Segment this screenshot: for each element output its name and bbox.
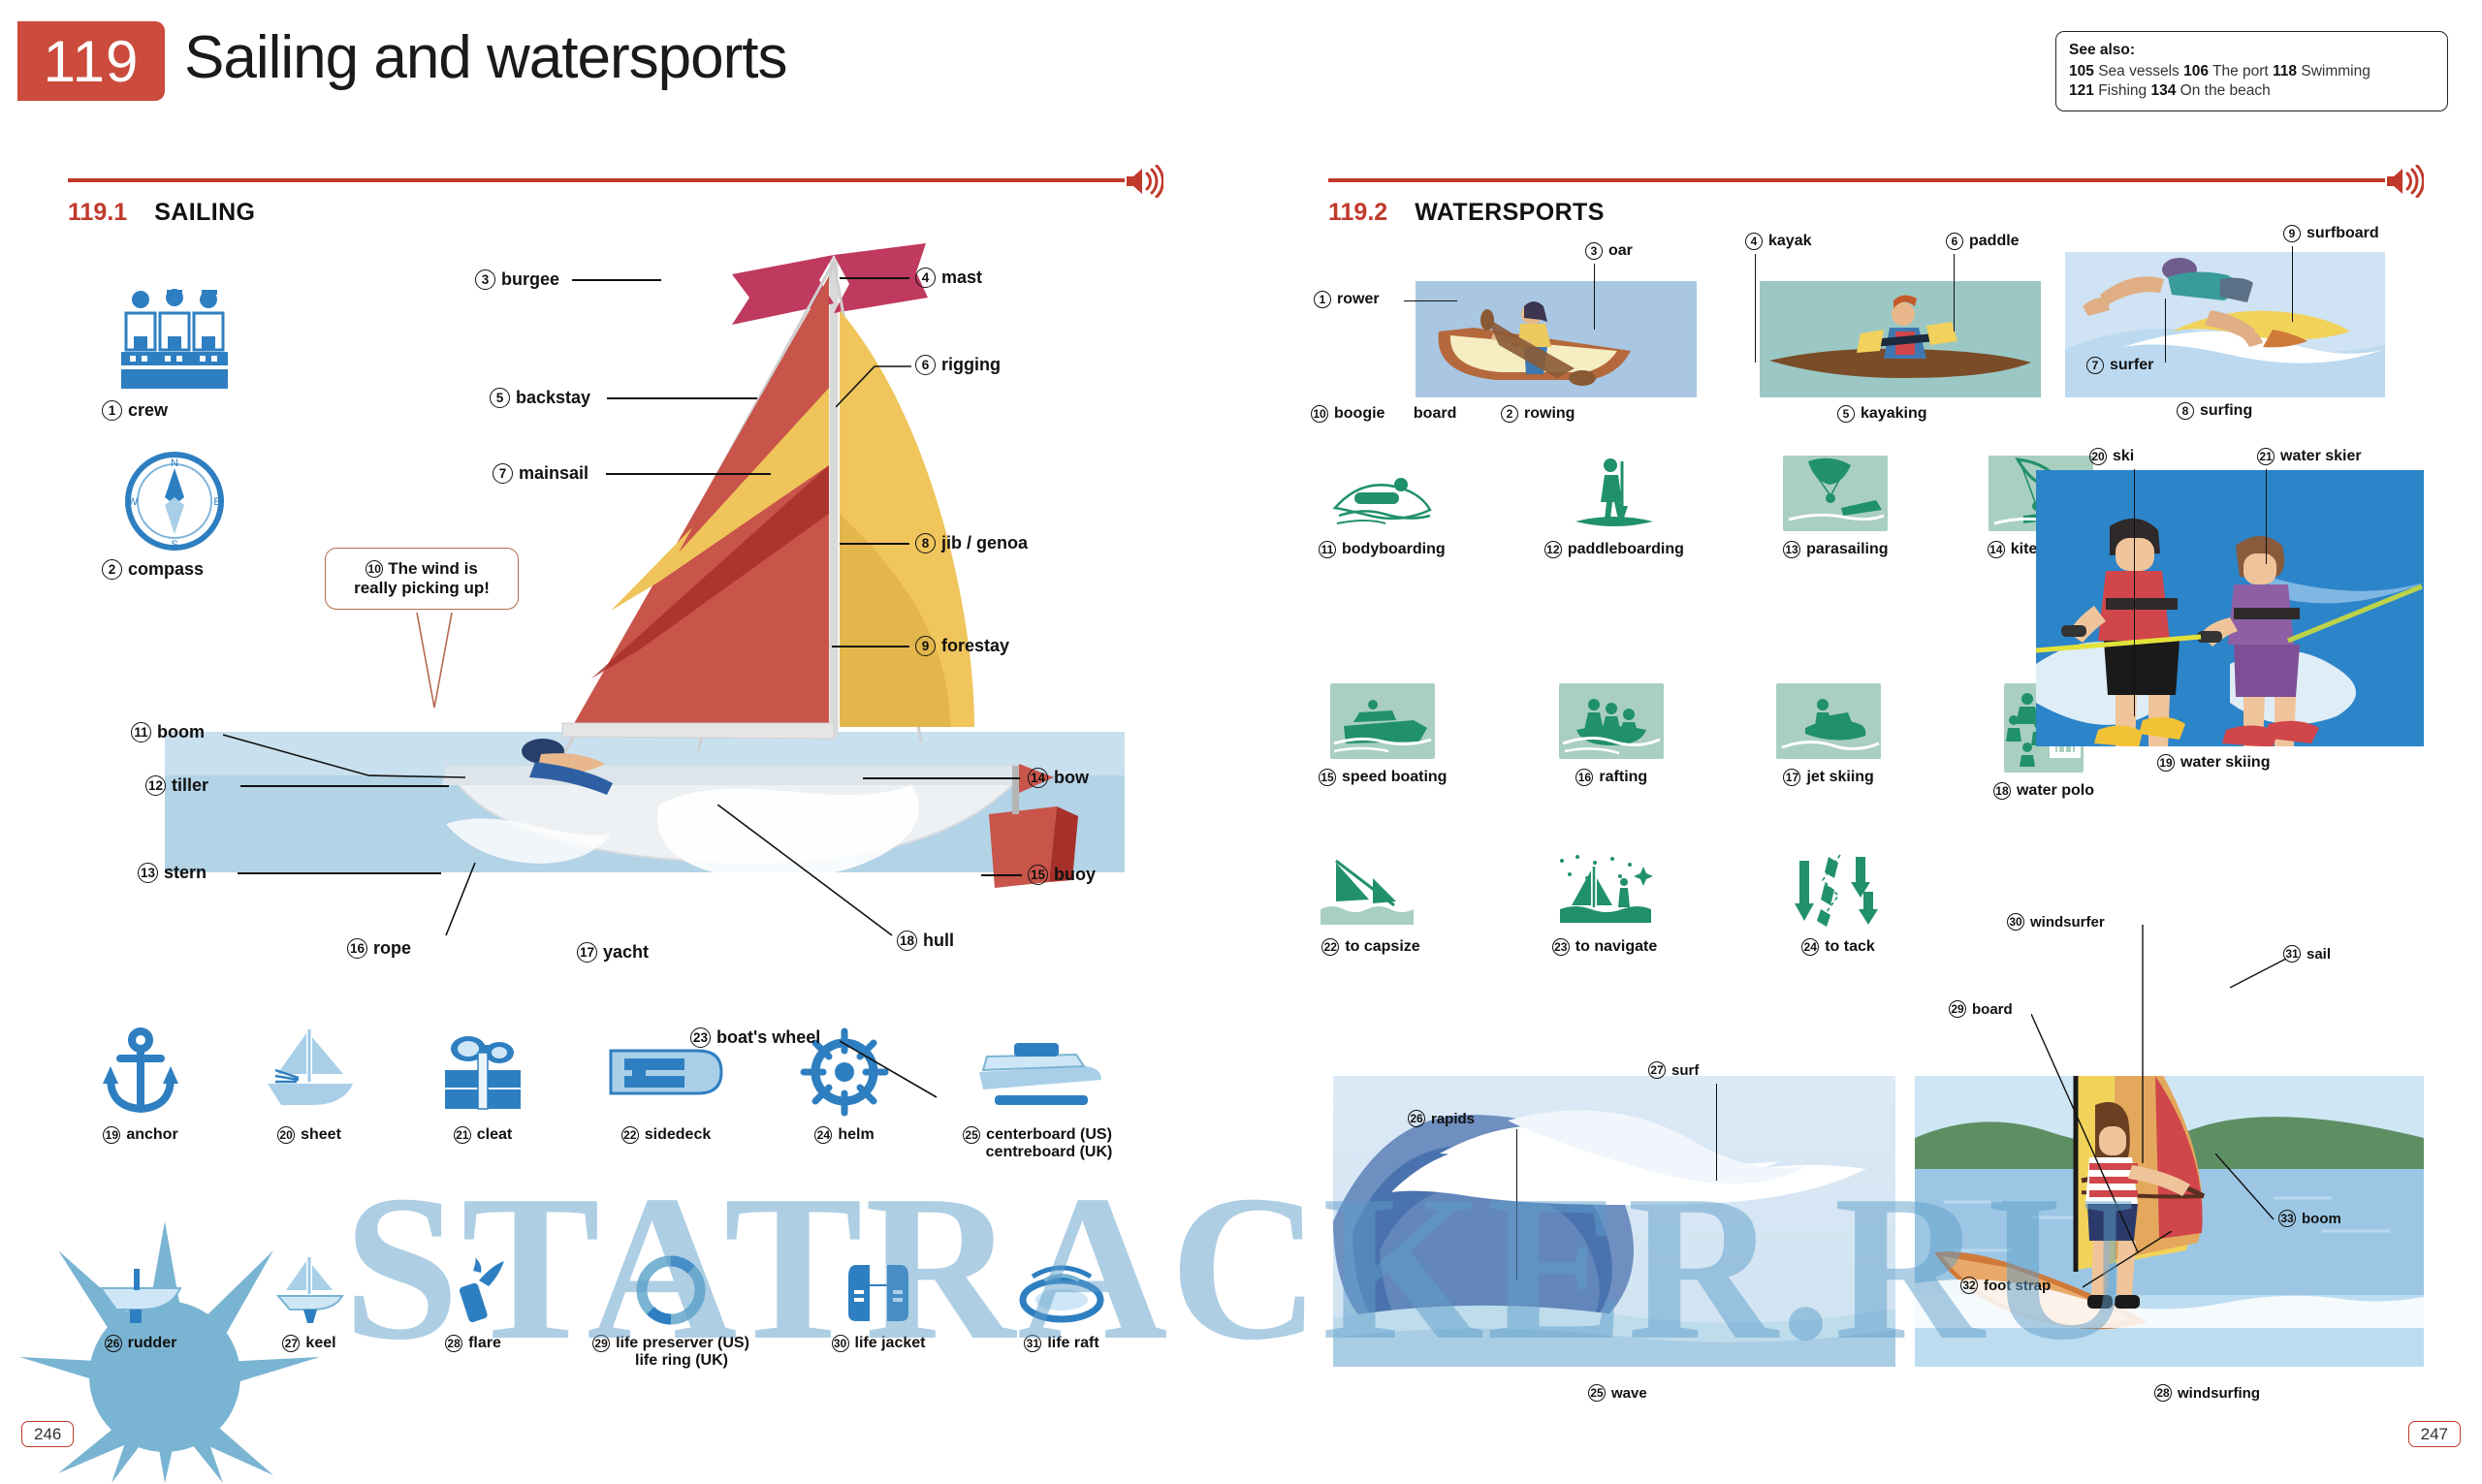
item-number: 31: [1024, 1335, 1041, 1352]
life-raft-icon: [1013, 1255, 1110, 1325]
label-rapids: 26 rapids: [1408, 1110, 1475, 1127]
label-water-skier: 21 water skier: [2257, 448, 2362, 465]
keel-icon: [261, 1255, 358, 1325]
label-surfer: 7 surfer: [2086, 357, 2153, 374]
item-label: keel: [305, 1335, 335, 1352]
leader-line: [607, 397, 757, 399]
see-also-label: See also:: [2069, 41, 2434, 60]
leader-line: [1594, 264, 1595, 330]
item-label: burgee: [501, 269, 559, 290]
label-oar: 3 oar: [1585, 242, 1633, 260]
sailing-yacht-illustration: [155, 223, 1134, 921]
item-label: life jacket: [855, 1335, 926, 1352]
see-also-line-2: 121 Fishing 134 On the beach: [2069, 81, 2434, 101]
item-label: kayak: [1768, 233, 1812, 250]
rafting-icon: [1559, 683, 1664, 759]
leader-line: [2215, 1153, 2293, 1231]
leader-line: [2134, 469, 2135, 716]
item-label: paddleboarding: [1568, 541, 1684, 558]
caption-windsurfing: 28 windsurfing: [2154, 1384, 2260, 1402]
caption-wave: 25 wave: [1588, 1384, 1647, 1402]
label-backstay: 5 backstay: [490, 388, 590, 408]
page-number: 247: [2408, 1421, 2461, 1447]
picto-to-tack: 24 to tack: [1786, 853, 1891, 956]
item-number: 16: [1575, 769, 1593, 786]
water-skiing-illustration: [2036, 470, 2424, 746]
item-label: to navigate: [1575, 938, 1657, 956]
leader-line: [2083, 1231, 2180, 1299]
item-number: 3: [1585, 242, 1603, 260]
label-boogie-board: 10 boogie board: [1311, 405, 1456, 423]
item-label: wave: [1611, 1385, 1647, 1402]
item-number: 27: [1648, 1061, 1666, 1079]
item-label: water polo: [2017, 782, 2094, 800]
item-number: 30: [832, 1335, 849, 1352]
item-label: foot strap: [1984, 1278, 2051, 1294]
see-also-num: 118: [2273, 63, 2297, 79]
item-number: 25: [963, 1126, 980, 1144]
equipment-item-cleat: 21 cleat: [405, 1027, 560, 1161]
jet-skiing-icon: [1776, 683, 1881, 759]
picto-speed-boating: 15 speed boating: [1319, 683, 1447, 800]
item-number: 22: [1321, 938, 1339, 956]
item-number: 2: [1501, 405, 1518, 423]
rowing-illustration: [1416, 281, 1697, 397]
item-number: 4: [915, 268, 936, 288]
item-label: bodyboarding: [1342, 541, 1446, 558]
item-number: 14: [1988, 541, 2005, 558]
item-number: 24: [1801, 938, 1819, 956]
page-number-right: 247: [2408, 1425, 2461, 1444]
item-label: mainsail: [519, 463, 589, 484]
item-number: 15: [1319, 769, 1336, 786]
item-number: 17: [577, 942, 597, 963]
speech-line-2: really picking up!: [335, 579, 508, 598]
item-label-line2: board: [1414, 405, 1456, 423]
leader-line: [223, 727, 475, 785]
see-also-num: 121: [2069, 82, 2094, 99]
see-also-line-1: 105 Sea vessels 106 The port 118 Swimmin…: [2069, 62, 2434, 81]
item-label: forestay: [941, 636, 1009, 656]
item-label: water skier: [2280, 448, 2362, 465]
label-yacht: 17 yacht: [577, 942, 649, 963]
label-bow: 14 bow: [1028, 768, 1089, 788]
item-number: 9: [915, 636, 936, 656]
speed-boating-icon: [1330, 683, 1435, 759]
item-number: 13: [138, 863, 158, 883]
item-number: 7: [2086, 357, 2104, 374]
item-label: speed boating: [1342, 769, 1447, 786]
leader-line: [2292, 246, 2293, 322]
label-boom: 11 boom: [131, 722, 205, 742]
item-number: 11: [1319, 541, 1336, 558]
item-number: 23: [1552, 938, 1570, 956]
item-number: 3: [475, 269, 495, 290]
picto-to-navigate: 23 to navigate: [1552, 853, 1657, 956]
item-label: flare: [468, 1335, 501, 1352]
leader-line: [1516, 1129, 1517, 1279]
item-label: surfer: [2110, 357, 2153, 374]
item-label: stern: [164, 863, 207, 883]
item-number: 12: [145, 775, 166, 796]
caption-kayaking: 5 kayaking: [1837, 405, 1926, 423]
see-also-num: 105: [2069, 63, 2094, 79]
picto-bodyboarding: 11 bodyboarding: [1319, 456, 1446, 558]
item-label: helm: [838, 1126, 874, 1144]
watersports-picto-row-3: 22 to capsize 23 to navigate: [1319, 853, 1891, 956]
item-number: 26: [1408, 1110, 1425, 1127]
page-number-left: 246: [21, 1425, 74, 1444]
item-number: 29: [1949, 1000, 1966, 1018]
label-mainsail: 7 mainsail: [493, 463, 589, 484]
label-hull: 18 hull: [897, 931, 954, 951]
item-label: rapids: [1431, 1111, 1475, 1127]
see-also-name: Sea vessels: [2098, 63, 2180, 79]
label-surfboard: 9 surfboard: [2283, 225, 2379, 242]
leader-line: [717, 805, 902, 940]
item-number: 20: [2089, 448, 2107, 465]
equipment-item-flare: 28 flare: [405, 1255, 541, 1370]
navigate-icon: [1552, 853, 1657, 929]
see-also-name: Fishing: [2098, 82, 2147, 99]
section-number: 119.2: [1328, 199, 1387, 227]
equipment-item-life-jacket: 30 life jacket: [801, 1255, 956, 1370]
leader-line: [840, 277, 909, 279]
item-label-alt: centreboard (UK): [986, 1144, 1113, 1161]
speech-bubble: 10 The wind is really picking up!: [325, 548, 519, 610]
item-number: 23: [690, 1027, 711, 1048]
item-label: boom: [2302, 1211, 2341, 1227]
item-number: 16: [347, 938, 367, 959]
picto-jet-skiing: 17 jet skiing: [1776, 683, 1881, 800]
label-board: 29 board: [1949, 1000, 2013, 1018]
item-number: 8: [915, 533, 936, 553]
see-also-box: See also: 105 Sea vessels 106 The port 1…: [2055, 31, 2448, 111]
item-number: 8: [2177, 402, 2194, 420]
picto-paddleboarding: 12 paddleboarding: [1544, 456, 1684, 558]
sailing-equipment-row-1: 19 anchor 20 sheet: [68, 1027, 1134, 1161]
item-label: to capsize: [1345, 938, 1419, 956]
item-label-alt: life ring (UK): [635, 1352, 728, 1370]
item-label: cleat: [477, 1126, 512, 1144]
item-label: sail: [2307, 946, 2331, 963]
item-number: 17: [1783, 769, 1800, 786]
label-tiller: 12 tiller: [145, 775, 208, 796]
item-label: ski: [2113, 448, 2134, 465]
label-mast: 4 mast: [915, 268, 982, 288]
item-label: tiller: [172, 775, 208, 796]
bodyboarding-icon: [1329, 456, 1434, 531]
item-label: rowing: [1524, 405, 1575, 423]
leader-line: [832, 646, 909, 647]
leader-line: [2230, 955, 2298, 994]
leader-line: [981, 874, 1022, 876]
item-label: boogie: [1334, 405, 1384, 423]
sailboat-sheet-icon: [256, 1027, 363, 1117]
label-stern: 13 stern: [138, 863, 207, 883]
item-label: jib / genoa: [941, 533, 1028, 553]
item-label: yacht: [603, 942, 649, 963]
leader-line: [572, 279, 661, 281]
item-number: 28: [445, 1335, 462, 1352]
see-also-name: Swimming: [2301, 63, 2370, 79]
label-buoy: 15 buoy: [1028, 865, 1096, 885]
page-number: 246: [21, 1421, 74, 1447]
item-label: buoy: [1054, 865, 1096, 885]
item-number: 27: [282, 1335, 300, 1352]
unit-number-badge: 119: [17, 21, 165, 101]
tack-icon: [1786, 853, 1891, 929]
item-number: 32: [1960, 1277, 1978, 1294]
item-label: bow: [1054, 768, 1089, 788]
speaker-icon[interactable]: [2385, 165, 2424, 203]
section-rule-watersports: [1328, 178, 2385, 182]
item-number: 14: [1028, 768, 1048, 788]
item-label: water skiing: [2180, 754, 2270, 772]
item-number: 12: [1544, 541, 1562, 558]
equipment-item-sheet: 20 sheet: [237, 1027, 382, 1161]
item-number: 21: [454, 1126, 471, 1144]
item-label: rigging: [941, 355, 1001, 375]
picto-parasailing: 13 parasailing: [1783, 456, 1888, 558]
rudder-icon: [87, 1255, 194, 1325]
leader-line: [238, 872, 441, 874]
item-label: rower: [1337, 291, 1380, 308]
sailing-equipment-row-2: 26 rudder 27 keel 28 flare: [68, 1255, 1134, 1370]
item-number: 10: [1311, 405, 1328, 423]
item-number: 6: [1946, 233, 1963, 250]
item-label: rafting: [1599, 769, 1647, 786]
life-jacket-icon: [837, 1255, 920, 1325]
item-label: surfboard: [2307, 225, 2379, 242]
label-ski: 20 ski: [2089, 448, 2134, 465]
equipment-item-keel: 27 keel: [246, 1255, 372, 1370]
item-number: 29: [592, 1335, 610, 1352]
item-label: rope: [373, 938, 411, 959]
leader-line: [840, 1037, 956, 1105]
equipment-item-centerboard: 25 centerboard (US) centreboard (UK): [940, 1027, 1134, 1161]
item-number: 7: [493, 463, 513, 484]
label-burgee: 3 burgee: [475, 269, 559, 290]
item-number: 15: [1028, 865, 1048, 885]
item-label: jet skiing: [1806, 769, 1873, 786]
item-label: rudder: [128, 1335, 177, 1352]
kayaking-illustration: [1760, 281, 2041, 397]
section-number: 119.1: [68, 199, 127, 227]
anchor-icon: [99, 1027, 182, 1117]
label-boats-wheel: 23 boat's wheel: [690, 1027, 820, 1048]
picto-to-capsize: 22 to capsize: [1319, 853, 1423, 956]
item-number: 11: [131, 722, 151, 742]
item-label: sidedeck: [645, 1126, 711, 1144]
item-number: 25: [1588, 1384, 1606, 1402]
leader-line: [836, 361, 923, 419]
see-also-name: The port: [2212, 63, 2269, 79]
cleat-icon: [430, 1027, 536, 1117]
leader-line: [240, 785, 449, 787]
item-label: to tack: [1825, 938, 1875, 956]
caption-water-skiing: 19 water skiing: [2157, 754, 2270, 772]
item-number: 13: [1783, 541, 1800, 558]
item-label: mast: [941, 268, 982, 288]
item-label: sheet: [301, 1126, 341, 1144]
leader-line: [1404, 300, 1457, 301]
speech-line-1: The wind is: [388, 559, 478, 579]
item-label: boat's wheel: [716, 1027, 820, 1048]
item-number: 5: [1837, 405, 1855, 423]
item-number: 20: [277, 1126, 295, 1144]
see-also-num: 106: [2183, 63, 2209, 79]
flare-icon: [429, 1255, 518, 1325]
item-number: 10: [366, 560, 383, 578]
item-number: 28: [2154, 1384, 2172, 1402]
page-title: Sailing and watersports: [184, 23, 786, 92]
item-label: parasailing: [1806, 541, 1888, 558]
caption-rowing: 2 rowing: [1501, 405, 1575, 423]
item-label: backstay: [516, 388, 590, 408]
leader-line: [427, 863, 485, 945]
life-ring-icon: [629, 1255, 713, 1325]
parasailing-icon: [1783, 456, 1888, 531]
item-number: 9: [2283, 225, 2301, 242]
item-label: centerboard (US): [986, 1126, 1112, 1144]
item-label: paddle: [1969, 233, 2020, 250]
item-label: life raft: [1047, 1335, 1098, 1352]
label-paddle: 6 paddle: [1946, 233, 2020, 250]
label-rope: 16 rope: [347, 938, 411, 959]
caption-surfing: 8 surfing: [2177, 402, 2252, 420]
unit-number: 119: [44, 28, 140, 95]
watersports-picto-row-1: 11 bodyboarding 12 paddleboarding: [1319, 456, 2094, 558]
item-number: 1: [1314, 291, 1331, 308]
leader-line: [606, 473, 771, 475]
leader-line: [2266, 469, 2267, 564]
item-number: 4: [1745, 233, 1763, 250]
label-jib-genoa: 8 jib / genoa: [915, 533, 1028, 553]
leader-line: [863, 777, 1020, 779]
label-forestay: 9 forestay: [915, 636, 1009, 656]
item-label: surfing: [2200, 402, 2252, 420]
item-label: surf: [1671, 1062, 1699, 1079]
item-label: life preserver (US): [616, 1335, 749, 1352]
equipment-item-life-preserver: 29 life preserver (US) life ring (UK): [574, 1255, 768, 1370]
label-foot-strap: 32 foot strap: [1960, 1277, 2051, 1294]
equipment-item-rudder: 26 rudder: [68, 1255, 213, 1370]
equipment-item-life-raft: 31 life raft: [989, 1255, 1134, 1370]
speaker-icon[interactable]: [1125, 165, 1163, 203]
equipment-item-anchor: 19 anchor: [68, 1027, 213, 1161]
item-number: 24: [814, 1126, 832, 1144]
paddleboarding-icon: [1562, 456, 1667, 531]
watersports-picto-row-2: 15 speed boating 16 rafting: [1319, 683, 2094, 800]
section-heading-watersports: 119.2 WATERSPORTS: [1328, 199, 1605, 227]
section-rule-sailing: [68, 178, 1125, 182]
surfing-illustration: [2065, 252, 2385, 397]
item-number: 2: [102, 559, 122, 580]
item-number: 22: [621, 1126, 639, 1144]
item-label: kayaking: [1861, 405, 1926, 423]
see-also-name: On the beach: [2180, 82, 2271, 99]
capsize-icon: [1319, 853, 1423, 929]
section-name: WATERSPORTS: [1415, 199, 1605, 227]
item-label: oar: [1608, 242, 1633, 260]
item-label: windsurfer: [2030, 914, 2105, 931]
item-number: 19: [103, 1126, 120, 1144]
label-rigging: 6 rigging: [915, 355, 1001, 375]
item-label: boom: [157, 722, 205, 742]
item-number: 30: [2007, 913, 2024, 931]
speech-bubble-tail: [407, 611, 475, 717]
item-number: 18: [1993, 782, 2011, 800]
centerboard-icon: [970, 1027, 1105, 1117]
leader-line: [2165, 299, 2166, 363]
see-also-num: 134: [2150, 82, 2176, 99]
item-number: 19: [2157, 754, 2175, 772]
label-kayak: 4 kayak: [1745, 233, 1812, 250]
item-number: 21: [2257, 448, 2275, 465]
item-number: 5: [490, 388, 510, 408]
leader-line: [1755, 254, 1756, 363]
item-number: 1: [102, 400, 122, 421]
svg-text:W: W: [128, 496, 139, 508]
label-surf: 27 surf: [1648, 1061, 1699, 1079]
item-label: anchor: [126, 1126, 177, 1144]
label-windsurfer: 30 windsurfer: [2007, 913, 2105, 931]
item-number: 26: [105, 1335, 122, 1352]
leader-line: [840, 543, 909, 545]
label-rower: 1 rower: [1314, 291, 1380, 308]
item-label: board: [1972, 1001, 2013, 1018]
leader-line: [1954, 254, 1955, 332]
item-label: hull: [923, 931, 954, 951]
leader-line: [1716, 1084, 1717, 1181]
picto-rafting: 16 rafting: [1559, 683, 1664, 800]
item-label: windsurfing: [2178, 1385, 2260, 1402]
